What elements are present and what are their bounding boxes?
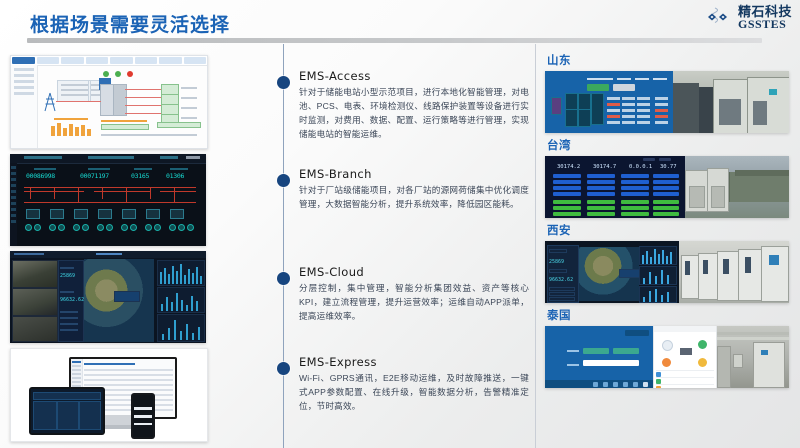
site-photo [673, 71, 789, 133]
timeline-item-ems-access[interactable]: EMS-Access 针对于储能电站小型示范项目，进行本地化智能管理，对电池、P… [299, 69, 529, 142]
timeline-item-ems-branch[interactable]: EMS-Branch 针对于厂站级储能项目，对各厂站的源网荷储集中优化调度管理，… [299, 167, 529, 212]
tablet-mock [29, 387, 105, 435]
brand-text: 精石科技 GSSTES [738, 5, 792, 30]
site-media-strip [545, 71, 789, 133]
tower-icon [43, 92, 57, 112]
site-login-screenshot [545, 326, 653, 388]
site-caption: 泰国 [547, 307, 795, 323]
site-shandong[interactable]: 山东 [545, 52, 795, 133]
timeline-axis [283, 44, 284, 448]
ems-cloud-screenshot[interactable]: 25869 96632.62 [10, 251, 206, 343]
timeline-item-ems-cloud[interactable]: EMS-Cloud 分层控制，集中管理，智能分析集团效益、资产等核心KPI，建立… [299, 265, 529, 324]
timeline-column: EMS-Access 针对于储能电站小型示范项目，进行本地化智能管理，对电池、P… [283, 44, 535, 448]
brand-logo: 精石科技 GSSTES [700, 4, 792, 30]
slide-root: 根据场景需要灵活选择 精石科技 GSSTES [0, 0, 800, 448]
timeline-node-2[interactable] [277, 174, 290, 187]
site-xian[interactable]: 西安 25869 96632.62 [545, 222, 795, 303]
ems-express-screenshot[interactable] [10, 348, 208, 442]
timeline-item-title: EMS-Cloud [299, 265, 529, 279]
status-indicator-dots [103, 71, 133, 77]
column-divider-right [535, 44, 536, 448]
site-caption: 台湾 [547, 137, 795, 153]
site-media-strip: 25869 96632.62 [545, 241, 789, 303]
brand-name-cn: 精石科技 [738, 5, 792, 18]
left-gallery: 00086998 00071197 03165 01306 [10, 55, 272, 447]
site-ui-screenshot: 30174.2 30174.7 0.0.0.1 30.77 [545, 156, 685, 218]
site-photo [685, 156, 789, 218]
sites-column: 山东 [545, 52, 795, 392]
timeline-item-title: EMS-Access [299, 69, 529, 83]
screenshot-tabbar [11, 56, 207, 66]
ems-branch-screenshot[interactable]: 00086998 00071197 03165 01306 [10, 154, 206, 246]
page-title: 根据场景需要灵活选择 [30, 10, 230, 37]
screenshot-sidebar [11, 65, 38, 148]
ems-access-screenshot[interactable] [10, 55, 208, 149]
site-photo [679, 241, 789, 303]
diamond-logo-icon [700, 4, 734, 30]
timeline-item-description: Wi-Fi、GPRS通讯，E2E移动运维，及时故障推送，一键式APP参数配置、在… [299, 372, 529, 414]
timeline-item-ems-express[interactable]: EMS-Express Wi-Fi、GPRS通讯，E2E移动运维，及时故障推送，… [299, 355, 529, 414]
timeline-item-description: 针对于储能电站小型示范项目，进行本地化智能管理，对电池、PCS、电表、环境检测仪… [299, 86, 529, 142]
site-caption: 西安 [547, 222, 795, 238]
site-caption: 山东 [547, 52, 795, 68]
timeline-node-3[interactable] [277, 272, 290, 285]
site-media-strip: 30174.2 30174.7 0.0.0.1 30.77 [545, 156, 789, 218]
site-mobile-app-screenshot [653, 326, 717, 388]
site-thailand[interactable]: 泰国 [545, 307, 795, 388]
timeline-node-4[interactable] [277, 362, 290, 375]
timeline-item-description: 分层控制，集中管理，智能分析集团效益、资产等核心KPI，建立流程管理，提升运营效… [299, 282, 529, 324]
brand-name-en: GSSTES [738, 18, 792, 30]
timeline-item-title: EMS-Branch [299, 167, 529, 181]
site-taiwan[interactable]: 台湾 30174.2 30174.7 0.0.0.1 30.77 [545, 137, 795, 218]
site-media-strip [545, 326, 789, 388]
phone-mock [131, 393, 155, 439]
site-ui-screenshot: 25869 96632.62 [545, 241, 679, 303]
title-underline-bar [27, 38, 762, 43]
site-ui-screenshot [545, 71, 673, 133]
timeline-node-1[interactable] [277, 76, 290, 89]
site-photo [717, 326, 789, 388]
timeline-item-description: 针对于厂站级储能项目，对各厂站的源网荷储集中优化调度管理，大数据智能分析，提升系… [299, 184, 529, 212]
timeline-item-title: EMS-Express [299, 355, 529, 369]
